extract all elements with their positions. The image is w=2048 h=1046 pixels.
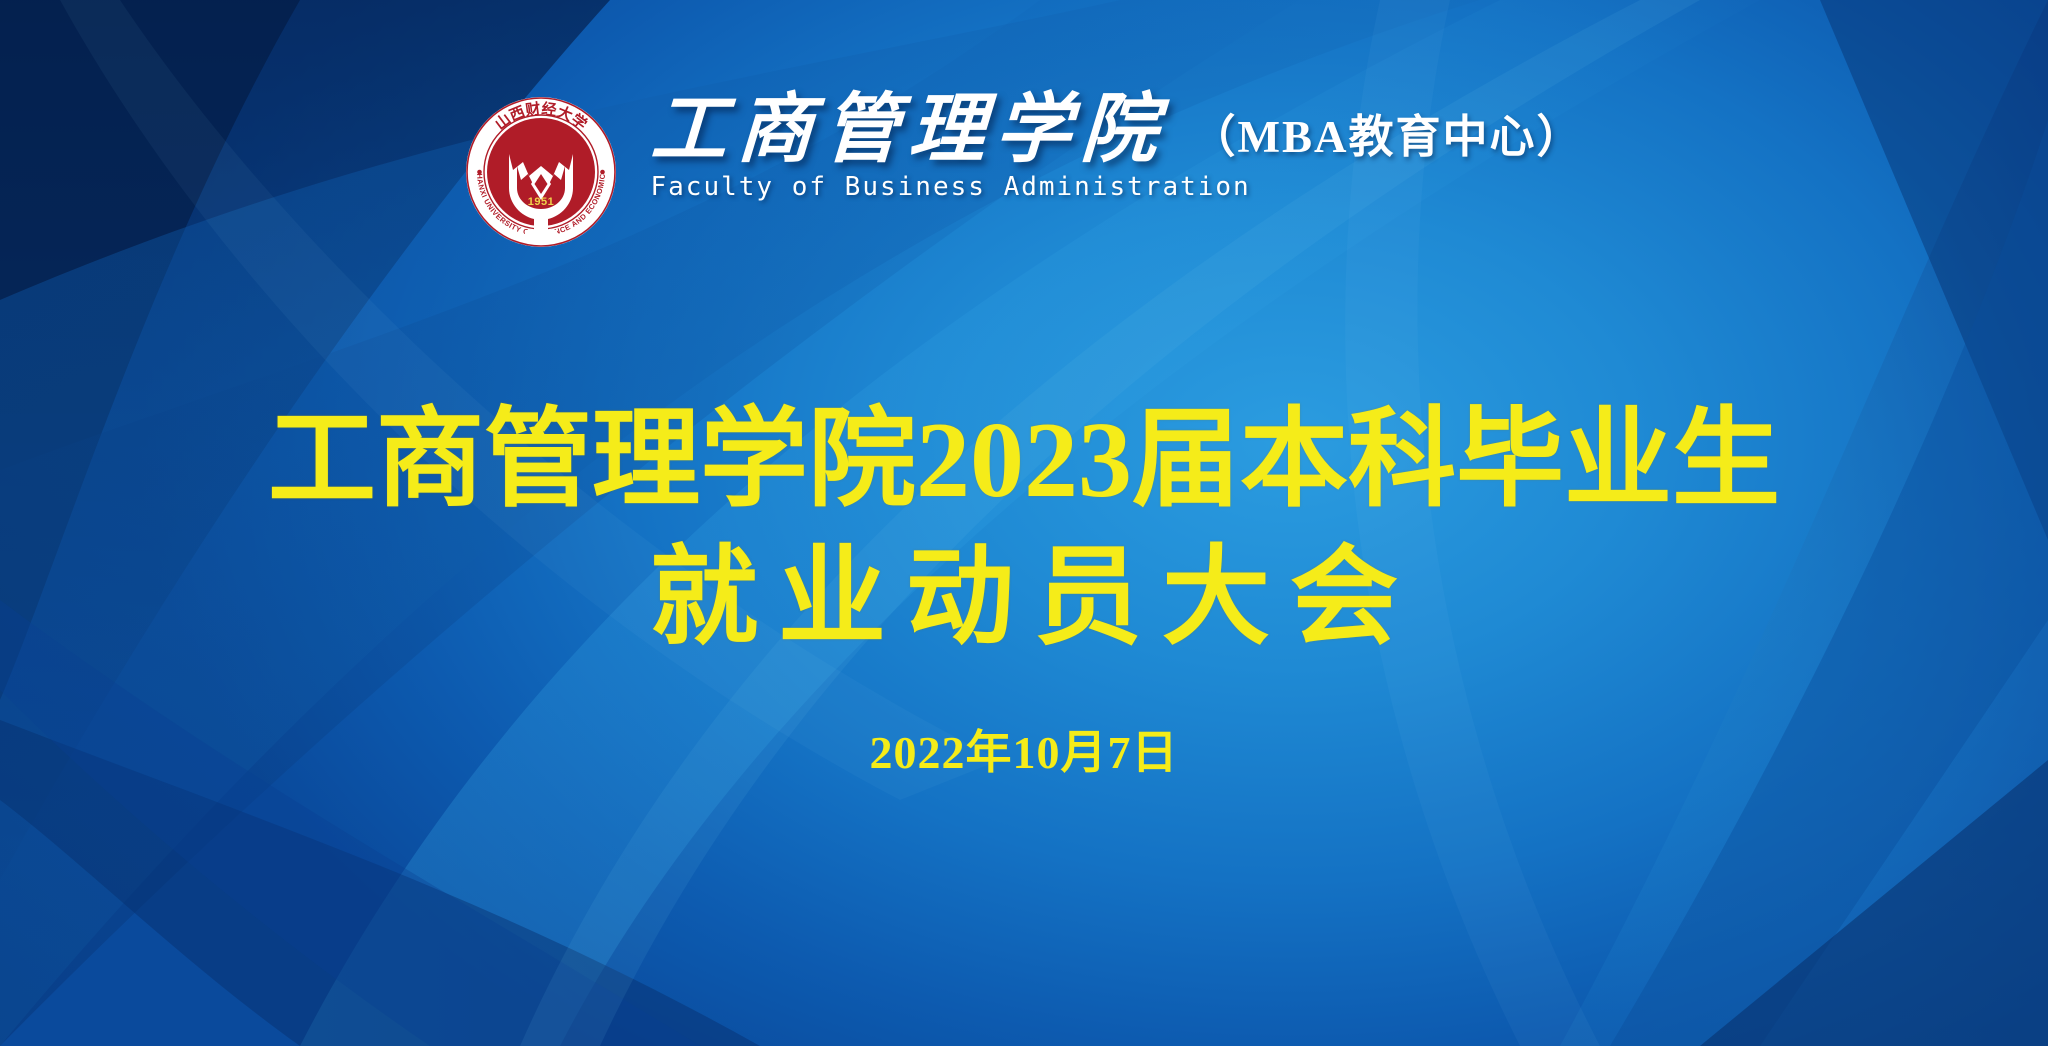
main-title-line-1: 工商管理学院2023届本科毕业生 [0, 392, 2048, 530]
school-title-group: 工商管理学院 （MBA教育中心） Faculty of Business Adm… [651, 92, 1584, 202]
slide-header: 山西财经大学 SHANXI UNIVERSITY OF FINANCE AND … [0, 92, 2048, 248]
faculty-name-row: 工商管理学院 （MBA教育中心） [651, 92, 1584, 170]
mba-center-label: （MBA教育中心） [1191, 115, 1584, 170]
main-title-line-2: 就业动员大会 [0, 530, 2048, 668]
faculty-name-en: Faculty of Business Administration [651, 172, 1251, 202]
faculty-name-cn: 工商管理学院 [648, 92, 1168, 170]
main-title-block: 工商管理学院2023届本科毕业生 就业动员大会 [0, 392, 2048, 668]
svg-text:1951: 1951 [527, 196, 553, 208]
university-crest-icon: 山西财经大学 SHANXI UNIVERSITY OF FINANCE AND … [465, 96, 617, 248]
presentation-slide: 山西财经大学 SHANXI UNIVERSITY OF FINANCE AND … [0, 0, 2048, 1046]
event-date: 2022年10月7日 [0, 716, 2048, 782]
crest-svg: 山西财经大学 SHANXI UNIVERSITY OF FINANCE AND … [465, 96, 617, 248]
